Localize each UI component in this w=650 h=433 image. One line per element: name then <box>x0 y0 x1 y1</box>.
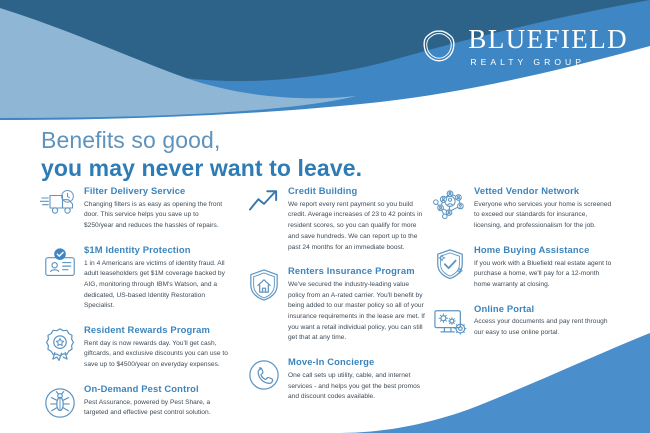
shield-house-icon <box>242 266 286 308</box>
benefit-item: Resident Rewards Program Rent day is now… <box>38 325 228 371</box>
benefit-title: Filter Delivery Service <box>84 186 228 197</box>
benefit-item: Move-In Concierge One call sets up utili… <box>242 357 427 403</box>
bluefield-ring-icon <box>421 28 457 64</box>
header-wave-band: BLUEFIELD REALTY GROUP <box>0 0 650 120</box>
benefit-description: Access your documents and pay rent throu… <box>474 317 613 338</box>
phone-circle-icon <box>242 357 286 399</box>
trending-up-arrow-icon <box>242 186 286 228</box>
benefit-item: Online Portal Access your documents and … <box>428 304 613 346</box>
benefit-title: Online Portal <box>474 304 613 315</box>
logo-wordmark: BLUEFIELD <box>468 26 628 53</box>
benefit-title: $1M Identity Protection <box>84 245 228 256</box>
page-headline: Benefits so good, you may never want to … <box>41 126 362 182</box>
flyer-page: BLUEFIELD REALTY GROUP Benefits so good,… <box>0 0 650 433</box>
benefits-column-2: Credit Building We report every rent pay… <box>242 186 427 416</box>
benefit-description: We report every rent payment so you buil… <box>288 200 427 253</box>
benefit-item: On-Demand Pest Control Pest Assurance, p… <box>38 384 228 426</box>
benefit-description: Everyone who services your home is scree… <box>474 200 613 232</box>
benefits-column-1: Filter Delivery Service Changing filters… <box>38 186 228 433</box>
benefits-column-3: Vetted Vendor Network Everyone who servi… <box>428 186 613 359</box>
delivery-truck-icon <box>38 186 82 228</box>
headline-line-1: Benefits so good, <box>41 126 362 154</box>
benefit-item: Filter Delivery Service Changing filters… <box>38 186 228 232</box>
benefit-item: Vetted Vendor Network Everyone who servi… <box>428 186 613 232</box>
benefit-title: Renters Insurance Program <box>288 266 427 277</box>
monitor-gears-icon <box>428 304 472 346</box>
benefit-description: Pest Assurance, powered by Pest Share, a… <box>84 398 228 419</box>
benefit-item: $1M Identity Protection 1 in 4 Americans… <box>38 245 228 312</box>
benefit-item: Renters Insurance Program We've secured … <box>242 266 427 344</box>
benefit-title: Move-In Concierge <box>288 357 427 368</box>
award-ribbon-icon <box>38 325 82 367</box>
benefit-title: Home Buying Assistance <box>474 245 613 256</box>
people-network-icon <box>428 186 472 228</box>
id-card-check-icon <box>38 245 82 287</box>
benefit-title: Credit Building <box>288 186 427 197</box>
pest-bug-icon <box>38 384 82 426</box>
benefit-description: Rent day is now rewards day. You'll get … <box>84 339 228 371</box>
logo-tagline: REALTY GROUP <box>468 58 585 67</box>
benefit-item: Credit Building We report every rent pay… <box>242 186 427 253</box>
benefit-description: If you work with a Bluefield real estate… <box>474 259 613 291</box>
benefit-description: 1 in 4 Americans are victims of identity… <box>84 259 228 312</box>
benefit-description: We've secured the industry-leading value… <box>288 280 427 344</box>
shield-check-sparkle-icon <box>428 245 472 287</box>
brand-logo: BLUEFIELD REALTY GROUP <box>421 26 628 67</box>
benefit-title: Resident Rewards Program <box>84 325 228 336</box>
benefit-title: Vetted Vendor Network <box>474 186 613 197</box>
benefit-description: One call sets up utility, cable, and int… <box>288 371 427 403</box>
benefit-item: Home Buying Assistance If you work with … <box>428 245 613 291</box>
benefit-description: Changing filters is as easy as opening t… <box>84 200 228 232</box>
headline-line-2: you may never want to leave. <box>41 154 362 182</box>
benefit-title: On-Demand Pest Control <box>84 384 228 395</box>
